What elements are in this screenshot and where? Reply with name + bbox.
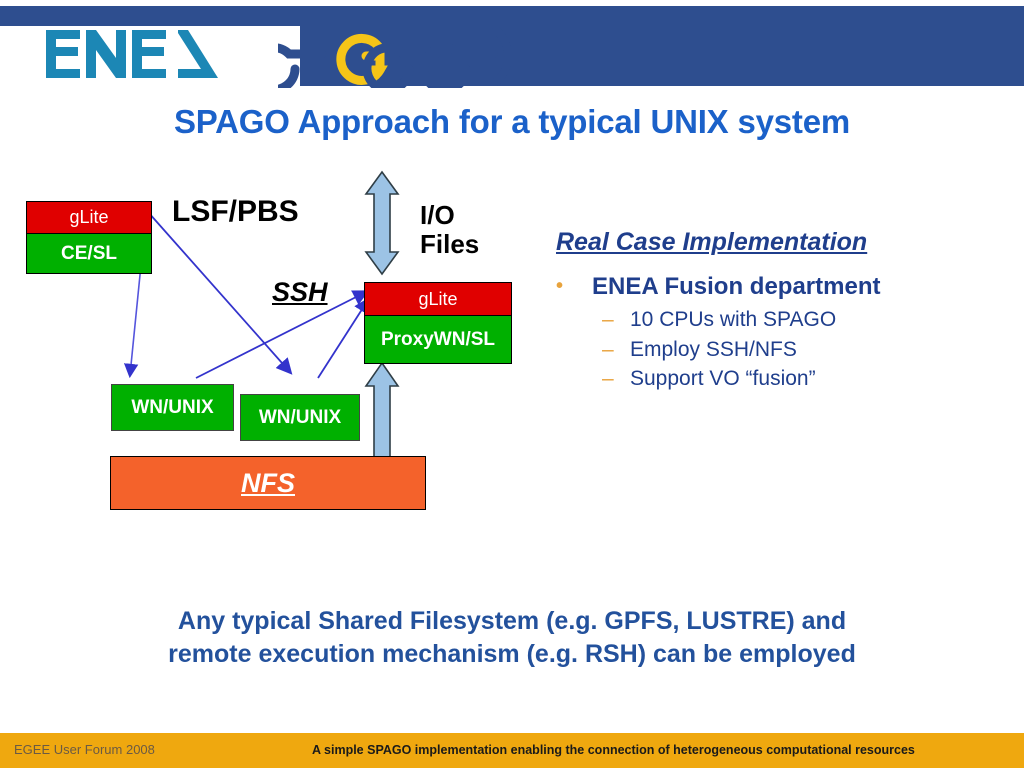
wn-box-left: WN/UNIX — [111, 384, 234, 431]
real-case-panel: Real Case Implementation • ENEA Fusion d… — [556, 228, 1006, 395]
proxywn-box: gLite ProxyWN/SL — [364, 282, 512, 364]
proxywn-box-bottom-label: ProxyWN/SL — [364, 316, 512, 364]
wn-box-right: WN/UNIX — [240, 394, 360, 441]
footer-event-label: EGEE User Forum 2008 — [14, 742, 155, 757]
list-item-label: Employ SSH/NFS — [630, 337, 797, 363]
list-item: – Support VO “fusion” — [602, 366, 1006, 392]
list-item-label: Support VO “fusion” — [630, 366, 816, 392]
ce-box-top-label: gLite — [26, 201, 152, 234]
footer-description: A simple SPAGO implementation enabling t… — [312, 743, 915, 757]
dash-marker: – — [602, 366, 630, 392]
proxywn-box-top-label: gLite — [364, 282, 512, 316]
page-title: SPAGO Approach for a typical UNIX system — [0, 103, 1024, 141]
slide-caption: Any typical Shared Filesystem (e.g. GPFS… — [0, 605, 1024, 671]
io-files-line2: Files — [420, 230, 479, 259]
io-files-line1: I/O — [420, 201, 479, 230]
egee-logo — [278, 24, 528, 88]
list-item-label: ENEA Fusion department — [592, 273, 880, 301]
nfs-box: NFS — [110, 456, 426, 510]
caption-line-1: Any typical Shared Filesystem (e.g. GPFS… — [0, 605, 1024, 638]
architecture-diagram: gLite CE/SL gLite ProxyWN/SL WN/UNIX WN/… — [0, 160, 560, 530]
ssh-label: SSH — [272, 277, 328, 308]
list-item-label: 10 CPUs with SPAGO — [630, 307, 836, 333]
io-double-arrow — [366, 172, 398, 274]
bullet-marker: • — [556, 273, 592, 300]
list-item: • ENEA Fusion department — [556, 273, 1006, 301]
ce-box: gLite CE/SL — [26, 201, 152, 274]
dash-marker: – — [602, 337, 630, 363]
caption-line-2: remote execution mechanism (e.g. RSH) ca… — [0, 638, 1024, 671]
enea-logo — [44, 28, 220, 80]
list-item: – 10 CPUs with SPAGO — [602, 307, 1006, 333]
ce-box-bottom-label: CE/SL — [26, 234, 152, 274]
footer-bar: EGEE User Forum 2008 A simple SPAGO impl… — [0, 733, 1024, 768]
io-files-label: I/O Files — [420, 201, 479, 259]
real-case-heading: Real Case Implementation — [556, 228, 1006, 257]
lsf-pbs-label: LSF/PBS — [172, 195, 299, 229]
list-item: – Employ SSH/NFS — [602, 337, 1006, 363]
dash-marker: – — [602, 307, 630, 333]
